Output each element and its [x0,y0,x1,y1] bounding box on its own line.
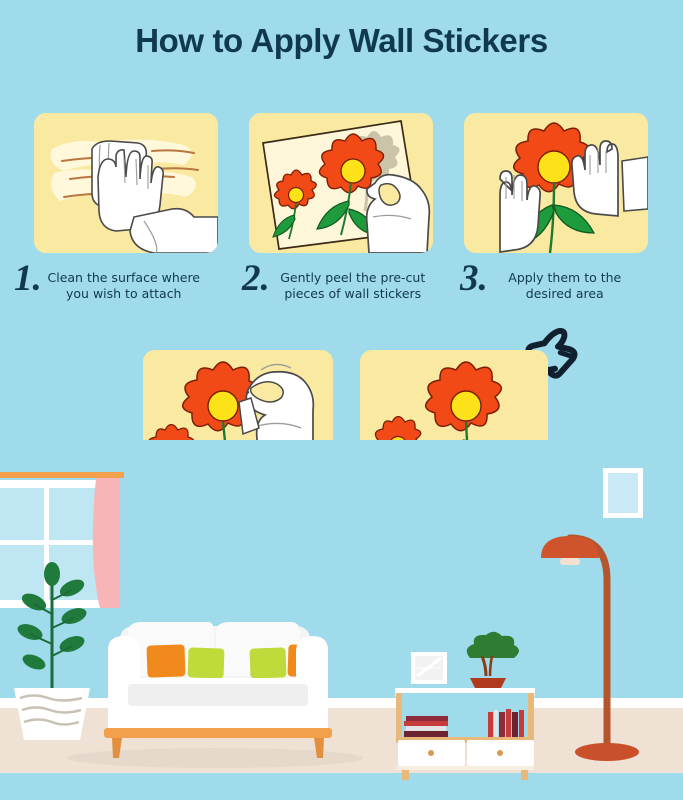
step-3-caption: 3. Apply them to the desired area [460,262,672,302]
step-2-number: 2. [242,262,270,296]
step-1-caption: 1. Clean the surface where you wish to a… [14,262,226,302]
step-1-number: 1. [14,262,42,296]
page-title: How to Apply Wall Stickers [0,22,683,60]
step-2-illustration [249,113,433,253]
step-2-text: Gently peel the pre-cut pieces of wall s… [272,262,434,302]
step-3-number: 3. [460,262,488,296]
infographic-page: How to Apply Wall Stickers [0,0,683,800]
step-1-illustration [34,113,218,253]
step-2-caption: 2. Gently peel the pre-cut pieces of wal… [242,262,454,302]
step-3-text: Apply them to the desired area [490,262,640,302]
living-room-scene [0,440,683,800]
wall-picture-frame [603,468,643,518]
step-3-illustration [464,113,648,253]
step-1-text: Clean the surface where you wish to atta… [44,262,204,302]
